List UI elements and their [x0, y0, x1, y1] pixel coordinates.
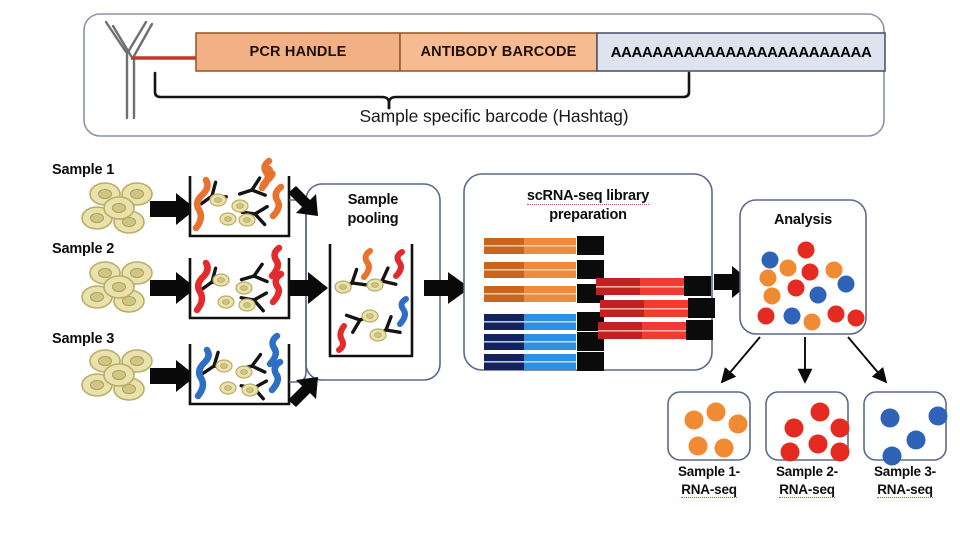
analysis-dot-3	[760, 270, 777, 287]
cell-cluster-3	[82, 350, 152, 400]
workflow-diagram	[0, 0, 960, 540]
library-reads-red	[596, 276, 715, 340]
output-label-2-line1: Sample 2-	[758, 464, 856, 480]
staining-tube-3	[190, 336, 289, 404]
output-label-1-line1: Sample 1-	[660, 464, 758, 480]
output-label-3-line2-text: RNA-seq	[877, 482, 933, 498]
read-orange-3	[484, 284, 604, 303]
library-title-line2: preparation	[470, 207, 706, 225]
analysis-dot-9	[838, 276, 855, 293]
output-label-1-line2: RNA-seq	[660, 482, 758, 498]
read-red-3	[598, 320, 713, 340]
output-label-1-line2-text: RNA-seq	[681, 482, 737, 498]
cell-cluster-1	[82, 183, 152, 233]
pooling-title-line1: Sample	[312, 192, 434, 210]
analysis-dot-14	[848, 310, 865, 327]
read-orange-1	[484, 236, 604, 255]
read-blue-2	[484, 332, 604, 351]
sample-2-rna-seq-dot-4	[809, 435, 828, 454]
analysis-dot-11	[784, 308, 801, 325]
arrow-to-output-3	[848, 337, 886, 382]
sample-3-rna-seq-dot-1	[929, 407, 948, 426]
analysis-dot-5	[826, 262, 843, 279]
segment-label-pcr-handle: PCR HANDLE	[196, 44, 400, 60]
output-panel-3	[864, 392, 948, 466]
pooling-title-line2: pooling	[312, 211, 434, 229]
sample-row-2	[82, 248, 289, 318]
analysis-dot-6	[764, 288, 781, 305]
sample-2-rna-seq-dot-1	[811, 403, 830, 422]
staining-tube-2	[190, 248, 289, 318]
arrow-to-output-1	[722, 337, 760, 382]
output-label-2-line2-text: RNA-seq	[779, 482, 835, 498]
sample-1-rna-seq-dot-1	[707, 403, 726, 422]
feed-curve-bottom	[289, 300, 306, 382]
analysis-dot-4	[802, 264, 819, 281]
sample-2-rna-seq-dot-0	[785, 419, 804, 438]
output-label-2-line2: RNA-seq	[758, 482, 856, 498]
read-red-2	[600, 298, 715, 318]
output-label-3-line2: RNA-seq	[856, 482, 954, 498]
sample-3-rna-seq-dot-2	[907, 431, 926, 450]
sample-1-rna-seq-dot-0	[685, 411, 704, 430]
segment-label-poly-a: AAAAAAAAAAAAAAAAAAAAAAAAA	[597, 44, 885, 61]
library-title-line1: scRNA-seq library	[470, 188, 706, 206]
sample-2-rna-seq-dot-5	[831, 443, 850, 462]
sample-label-2: Sample 2	[52, 241, 114, 257]
analysis-title: Analysis	[740, 212, 866, 230]
library-reads-orange	[484, 236, 604, 303]
analysis-output-arrows	[722, 337, 886, 382]
library-reads-blue	[484, 312, 604, 371]
read-orange-2	[484, 260, 604, 279]
figure-canvas: PCR HANDLE ANTIBODY BARCODE AAAAAAAAAAAA…	[0, 0, 960, 540]
segment-label-antibody-barcode: ANTIBODY BARCODE	[400, 44, 597, 60]
output-panel-1	[668, 392, 750, 460]
analysis-dot-7	[788, 280, 805, 297]
analysis-dot-12	[804, 314, 821, 331]
sample-1-rna-seq-dot-4	[715, 439, 734, 458]
sample-3-rna-seq-dot-0	[881, 409, 900, 428]
analysis-dot-2	[780, 260, 797, 277]
analysis-dot-8	[810, 287, 827, 304]
output-panel-2	[766, 392, 850, 462]
sample-label-1: Sample 1	[52, 162, 114, 178]
sample-1-rna-seq-dot-3	[689, 437, 708, 456]
read-red-1	[596, 276, 711, 296]
cell-cluster-2	[82, 262, 152, 312]
sample-label-3: Sample 3	[52, 331, 114, 347]
library-title-line1-text: scRNA-seq library	[527, 188, 649, 205]
read-blue-1	[484, 312, 604, 331]
analysis-dot-0	[762, 252, 779, 269]
analysis-dot-1	[798, 242, 815, 259]
sample-1-rna-seq-dot-2	[729, 415, 748, 434]
sample-2-rna-seq-dot-3	[781, 443, 800, 462]
read-blue-3	[484, 352, 604, 371]
analysis-dot-13	[828, 306, 845, 323]
sample-2-rna-seq-dot-2	[831, 419, 850, 438]
output-label-3-line1: Sample 3-	[856, 464, 954, 480]
analysis-dot-10	[758, 308, 775, 325]
sample-3-rna-seq-dot-3	[883, 447, 902, 466]
hashtag-brace-label: Sample specific barcode (Hashtag)	[304, 106, 684, 127]
staining-tube-1	[190, 161, 289, 236]
